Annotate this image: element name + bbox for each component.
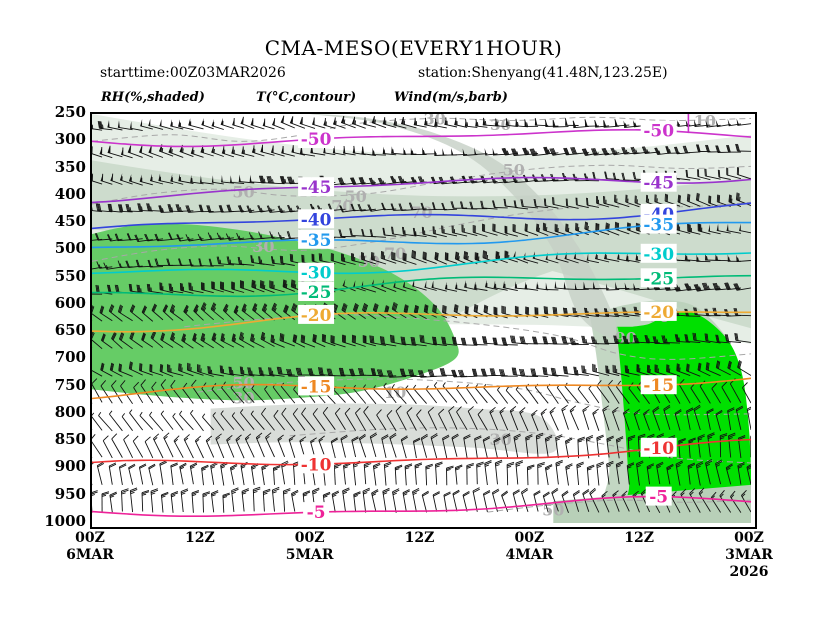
wind-barb xyxy=(506,387,518,404)
rh-label-30-e: 30 xyxy=(489,430,511,449)
x-tick-label: 00Z5MAR xyxy=(286,530,334,564)
wind-barb xyxy=(516,461,523,485)
y-tick-label: 950 xyxy=(40,485,86,503)
wind-barb xyxy=(593,409,599,431)
wind-barb xyxy=(251,118,265,129)
wind-barb xyxy=(565,438,572,458)
wind-barb xyxy=(221,118,234,129)
svg-text:-5: -5 xyxy=(649,488,668,508)
wind-barb xyxy=(497,387,507,404)
wind-barb xyxy=(615,119,630,126)
wind-barb xyxy=(174,436,183,458)
wind-barb xyxy=(587,465,594,485)
wind-barb xyxy=(263,489,270,511)
starttime-label: starttime:00Z03MAR2026 xyxy=(100,65,286,81)
wind-barb xyxy=(332,491,339,513)
wind-barb xyxy=(436,462,443,485)
y-tick-label: 650 xyxy=(40,321,86,339)
wind-barb xyxy=(221,462,228,485)
wind-barb xyxy=(190,410,203,431)
x-tick-label: 12Z xyxy=(185,530,215,547)
wind-barb xyxy=(161,492,168,512)
wind-barb xyxy=(223,493,230,513)
wind-barb xyxy=(343,488,350,512)
wind-barb xyxy=(112,434,123,458)
svg-text:-45: -45 xyxy=(643,174,674,194)
wind-barb xyxy=(184,434,193,458)
temperature-contour-label: -40 xyxy=(298,209,334,230)
wind-barb xyxy=(426,464,433,485)
wind-barb xyxy=(589,385,599,403)
wind-barb xyxy=(547,384,558,404)
temperature-contour-label: -5 xyxy=(646,487,672,508)
wind-barb xyxy=(124,435,133,458)
wind-barb xyxy=(251,464,258,485)
y-tick-label: 850 xyxy=(40,430,86,448)
wind-barb xyxy=(467,463,474,484)
svg-text:-50: -50 xyxy=(643,122,674,142)
svg-text:-20: -20 xyxy=(643,303,674,323)
wind-barb xyxy=(211,463,218,485)
wind-barb xyxy=(241,462,248,485)
wind-barb xyxy=(473,488,480,512)
svg-text:-50: -50 xyxy=(301,130,332,150)
wind-barb xyxy=(383,488,390,512)
temperature-contour-label: -15 xyxy=(641,375,677,396)
wind-barb xyxy=(122,413,133,430)
wind-barb xyxy=(562,405,569,429)
rh-label-10-topright: 10 xyxy=(694,114,716,131)
wind-barb xyxy=(232,488,239,512)
wind-barb xyxy=(145,437,153,458)
wind-barb xyxy=(535,384,548,403)
wind-barb xyxy=(203,492,210,513)
wind-barb xyxy=(477,462,484,484)
temperature-contour-label: -25 xyxy=(298,282,334,303)
wind-barb xyxy=(455,465,462,485)
temperature-contour-label: -45 xyxy=(641,173,677,194)
wind-barb xyxy=(534,491,541,512)
station-label: station:Shenyang(41.48N,123.25E) xyxy=(418,65,668,81)
wind-barb xyxy=(181,489,188,512)
wind-barb xyxy=(538,462,545,484)
y-tick-label: 900 xyxy=(40,457,86,475)
wind-barb xyxy=(453,490,460,511)
wind-barb xyxy=(180,411,194,430)
wind-barb xyxy=(595,120,610,127)
wind-barb xyxy=(130,488,137,512)
svg-text:-25: -25 xyxy=(301,283,332,303)
wind-barb xyxy=(195,436,203,458)
wind-barb xyxy=(583,406,589,430)
wind-barb xyxy=(527,465,534,485)
rh-label-30-d: 30 xyxy=(232,389,254,408)
wind-barb xyxy=(353,461,360,485)
wind-barb xyxy=(230,464,237,485)
y-axis: 2503003504004505005506006507007508008509… xyxy=(32,112,86,525)
svg-text:-15: -15 xyxy=(643,376,674,396)
x-axis: 00Z6MAR12Z00Z5MAR12Z00Z4MAR12Z00Z3MAR202… xyxy=(90,530,753,600)
wind-barb xyxy=(404,147,417,154)
wind-barb xyxy=(485,148,498,155)
wind-barb xyxy=(202,118,214,129)
temperature-contour-label: -35 xyxy=(641,215,677,236)
wind-barb xyxy=(202,465,209,485)
wind-barb xyxy=(140,412,153,430)
wind-barb xyxy=(444,492,451,512)
wind-barb xyxy=(253,487,260,511)
wind-barb xyxy=(415,463,422,485)
wind-barb xyxy=(190,463,197,484)
x-tick-label: 00Z6MAR xyxy=(66,530,114,564)
wind-barb xyxy=(434,382,447,402)
wind-barb xyxy=(171,463,178,485)
temperature-contour-label: -10 xyxy=(298,454,334,475)
wind-barb xyxy=(92,413,102,431)
wind-barb xyxy=(272,487,279,511)
wind-barb xyxy=(97,462,104,485)
wind-barb xyxy=(149,464,156,485)
wind-barb xyxy=(283,489,290,512)
y-tick-label: 800 xyxy=(40,403,86,421)
wind-barb xyxy=(413,488,420,512)
y-tick-label: 750 xyxy=(40,376,86,394)
wind-barb xyxy=(526,384,538,404)
wind-barb xyxy=(354,492,361,512)
svg-text:-10: -10 xyxy=(643,439,674,459)
wind-barb xyxy=(334,463,341,485)
wind-barb xyxy=(292,490,299,511)
wind-barb xyxy=(502,491,508,512)
y-tick-label: 1000 xyxy=(40,512,86,530)
legend-temperature: T(°C,contour) xyxy=(256,90,356,105)
x-tick-label: 12Z xyxy=(624,530,654,547)
wind-barb xyxy=(139,464,146,485)
svg-text:-45: -45 xyxy=(301,178,332,198)
svg-text:-10: -10 xyxy=(301,455,332,475)
wind-barb xyxy=(262,464,269,485)
wind-barb xyxy=(557,385,568,404)
y-tick-label: 300 xyxy=(40,130,86,148)
wind-barb xyxy=(344,463,351,485)
svg-text:-40: -40 xyxy=(301,210,332,230)
wind-barb xyxy=(556,460,563,484)
y-tick-label: 600 xyxy=(40,294,86,312)
svg-text:-5: -5 xyxy=(307,503,326,523)
wind-barb xyxy=(171,491,178,512)
wind-barb xyxy=(130,410,143,431)
wind-barb xyxy=(211,491,218,513)
wind-barb xyxy=(161,411,173,430)
svg-text:-15: -15 xyxy=(301,377,332,397)
x-tick-label: 00Z4MAR xyxy=(505,530,553,564)
wind-barb xyxy=(119,464,126,485)
temperature-contour-label: -30 xyxy=(298,263,334,284)
wind-barb xyxy=(384,462,391,486)
y-tick-label: 700 xyxy=(40,348,86,366)
temperature-contour-label: -10 xyxy=(641,438,677,459)
wind-barb xyxy=(188,118,203,129)
svg-text:-35: -35 xyxy=(301,231,332,251)
temperature-contour-label: -20 xyxy=(298,305,334,326)
wind-barb xyxy=(153,434,163,458)
y-tick-label: 550 xyxy=(40,267,86,285)
wind-barb xyxy=(170,119,183,129)
temperature-contour-label: -20 xyxy=(641,302,677,323)
wind-barb xyxy=(507,462,514,485)
wind-barb xyxy=(574,367,589,376)
wind-barb xyxy=(151,489,158,513)
wind-barb xyxy=(393,489,400,513)
wind-barb xyxy=(129,464,136,485)
wind-barb xyxy=(364,462,371,484)
wind-barb xyxy=(192,490,199,512)
timeheight-cross-section: 303010505050707030705070905030103050-50-… xyxy=(92,114,751,523)
x-tick-label: 12Z xyxy=(405,530,435,547)
wind-barb xyxy=(363,488,370,512)
svg-text:-35: -35 xyxy=(643,216,674,236)
y-tick-label: 350 xyxy=(40,158,86,176)
wind-barb xyxy=(570,406,579,430)
wind-barb xyxy=(578,386,589,403)
temperature-contour-label: -5 xyxy=(303,502,329,523)
wind-barb xyxy=(109,463,116,485)
wind-barb xyxy=(160,461,167,485)
temperature-contour-label: -45 xyxy=(298,177,334,198)
wind-barb xyxy=(485,460,492,485)
wind-barb xyxy=(545,120,558,127)
wind-barb xyxy=(463,491,470,511)
wind-barb xyxy=(442,148,457,155)
wind-barb xyxy=(273,466,280,485)
wind-barb xyxy=(737,118,752,125)
x-tick-label: 00Z3MAR2026 xyxy=(725,530,773,581)
rh-label-50-c: 50 xyxy=(232,182,254,201)
wind-barb xyxy=(372,490,379,512)
wind-barb xyxy=(566,464,573,486)
wind-barb xyxy=(109,411,122,431)
wind-barb xyxy=(110,492,117,512)
y-tick-label: 500 xyxy=(40,239,86,257)
wind-barb xyxy=(164,433,173,457)
temperature-contour-label: -30 xyxy=(641,244,677,265)
wind-barb xyxy=(395,465,402,484)
rh-label-30-c: 30 xyxy=(252,237,274,256)
wind-barb xyxy=(405,464,412,486)
wind-barb xyxy=(545,465,552,486)
wind-barb xyxy=(447,466,454,485)
temperature-contour-label: -50 xyxy=(298,129,334,150)
temperature-contour-label: -50 xyxy=(641,121,677,142)
wind-barb xyxy=(434,149,447,156)
wind-barb xyxy=(495,460,502,484)
wind-barb xyxy=(92,491,98,513)
legend-rh: RH(%,shaded) xyxy=(101,90,205,105)
wind-barb xyxy=(373,463,380,486)
wind-barb xyxy=(173,413,184,430)
wind-barb xyxy=(242,489,249,512)
chart-plot-area: 303010505050707030705070905030103050-50-… xyxy=(90,112,757,529)
wind-barb xyxy=(577,462,584,485)
y-tick-label: 250 xyxy=(40,103,86,121)
wind-barb xyxy=(413,385,426,404)
wind-barb xyxy=(92,462,93,485)
svg-text:-20: -20 xyxy=(301,306,332,326)
wind-barb xyxy=(142,490,149,511)
temperature-contour-label: -25 xyxy=(641,268,677,289)
wind-barb xyxy=(133,436,143,458)
wind-barb xyxy=(92,434,102,457)
wind-barb xyxy=(102,492,109,512)
wind-barb xyxy=(122,489,129,512)
wind-barb xyxy=(103,436,112,458)
y-tick-label: 450 xyxy=(40,212,86,230)
y-tick-label: 400 xyxy=(40,185,86,203)
wind-barb xyxy=(565,118,578,125)
wind-barb xyxy=(403,490,410,512)
svg-text:-30: -30 xyxy=(643,245,674,265)
wind-barb xyxy=(422,491,429,512)
temperature-contour-label: -35 xyxy=(298,230,334,251)
temperature-contour-label: -15 xyxy=(298,376,334,397)
rh-label-70-a: 70 xyxy=(331,197,353,216)
wind-barb xyxy=(180,463,187,484)
svg-text:-30: -30 xyxy=(301,264,332,284)
wind-barb xyxy=(433,492,440,512)
page-title: CMA-MESO(EVERY1HOUR) xyxy=(0,36,827,60)
svg-text:-25: -25 xyxy=(643,269,674,289)
wind-barb xyxy=(490,368,508,376)
wind-barb xyxy=(597,462,604,486)
legend-wind: Wind(m/s,barb) xyxy=(394,90,508,105)
wind-barb xyxy=(312,118,325,129)
